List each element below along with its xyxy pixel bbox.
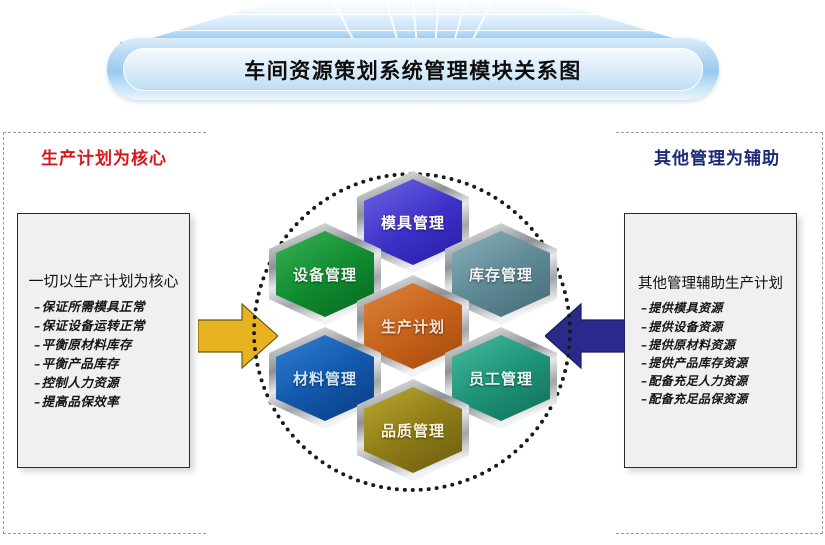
title-banner-inner: 车间资源策划系统管理模块关系图 bbox=[123, 48, 703, 91]
list-item: 保证设备运转正常 bbox=[34, 316, 185, 335]
list-item: 配备充足人力资源 bbox=[641, 372, 792, 390]
list-item: 提供设备资源 bbox=[641, 318, 792, 336]
left-panel-header: 生产计划为核心 bbox=[3, 139, 205, 173]
list-item: 提供原材料资源 bbox=[641, 336, 792, 354]
right-card-list: 提供模具资源 提供设备资源 提供原材料资源 提供产品库存资源 配备充足人力资源 … bbox=[625, 299, 796, 408]
page-title: 车间资源策划系统管理模块关系图 bbox=[244, 55, 582, 85]
floor-gridline-h2 bbox=[120, 30, 705, 31]
right-card-title: 其他管理辅助生产计划 bbox=[625, 272, 796, 293]
list-item: 配备充足品保资源 bbox=[641, 390, 792, 408]
list-item: 平衡原材料库存 bbox=[34, 335, 185, 354]
right-panel-header: 其他管理为辅助 bbox=[616, 139, 818, 173]
left-detail-card: 一切以生产计划为核心 保证所需模具正常 保证设备运转正常 平衡原材料库存 平衡产… bbox=[17, 213, 190, 468]
title-banner: 车间资源策划系统管理模块关系图 bbox=[107, 38, 719, 100]
list-item: 平衡产品库存 bbox=[34, 354, 185, 373]
list-item: 保证所需模具正常 bbox=[34, 297, 185, 316]
hex-quality[interactable]: 品质管理 bbox=[355, 378, 471, 482]
left-card-title: 一切以生产计划为核心 bbox=[18, 270, 189, 291]
list-item: 提供产品库存资源 bbox=[641, 354, 792, 372]
list-item: 提供模具资源 bbox=[641, 299, 792, 317]
list-item: 提高品保效率 bbox=[34, 392, 185, 411]
left-card-list: 保证所需模具正常 保证设备运转正常 平衡原材料库存 平衡产品库存 控制人力资源 … bbox=[18, 297, 189, 411]
diagram-canvas: 车间资源策划系统管理模块关系图 生产计划为核心 其他管理为辅助 一切以生产计划为… bbox=[0, 0, 825, 545]
list-item: 控制人力资源 bbox=[34, 373, 185, 392]
hexagon-cluster: 模具管理 设备管理 库存管理 生产计划 bbox=[246, 166, 580, 490]
right-detail-card: 其他管理辅助生产计划 提供模具资源 提供设备资源 提供原材料资源 提供产品库存资… bbox=[624, 213, 797, 468]
